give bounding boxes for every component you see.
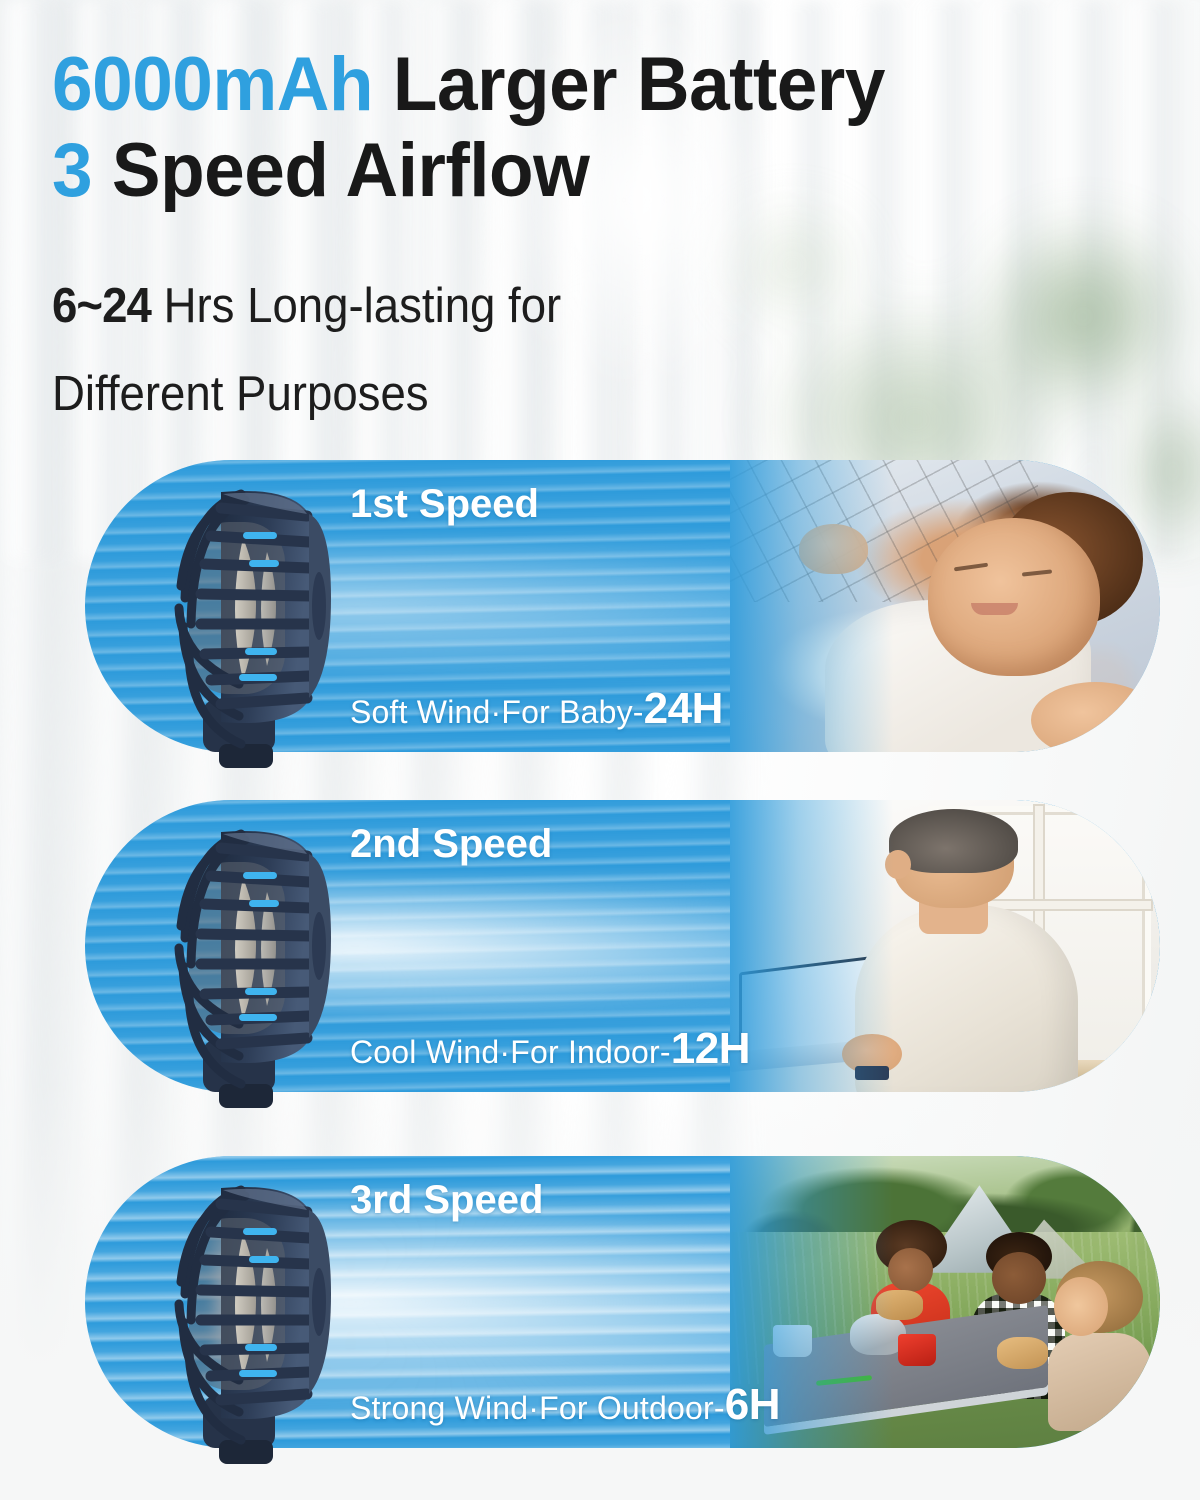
portable-fan-icon xyxy=(93,788,373,1108)
subheadline-hours-range: 6~24 xyxy=(52,279,151,333)
speed-card-3rd-description: Strong Wind·For Outdoor-6H xyxy=(350,1380,780,1430)
man-torso-tshirt xyxy=(855,905,1079,1092)
camper-3-face xyxy=(1054,1277,1108,1336)
camp-sandwich-2 xyxy=(997,1337,1049,1369)
baby-mouth xyxy=(971,603,1018,615)
camp-green-pen xyxy=(816,1375,872,1386)
baby-arm xyxy=(1031,682,1160,752)
subheadline-line-1-rest: Hrs Long-lasting for xyxy=(151,279,561,333)
portable-fan-icon xyxy=(93,448,373,768)
headline-battery-capacity: 6000mAh xyxy=(52,42,373,127)
camp-kettle xyxy=(850,1314,906,1355)
camper-2-face xyxy=(992,1252,1047,1304)
headline-block: 6000mAh Larger Battery 3 Speed Airflow xyxy=(52,42,1172,214)
window-sill xyxy=(928,1060,1152,1080)
scene-photo-man-at-laptop xyxy=(730,800,1160,1092)
camper-2-plaid-shirt xyxy=(971,1294,1066,1399)
man-ear xyxy=(885,850,911,879)
camping-photo-art xyxy=(730,1156,1160,1448)
speed-card-3rd-desc-text: Strong Wind·For Outdoor- xyxy=(350,1390,725,1426)
speed-card-3rd-runtime: 6H xyxy=(725,1380,780,1429)
headline-line-2: 3 Speed Airflow xyxy=(52,128,1127,214)
man-hand xyxy=(842,1034,902,1075)
baby-hair xyxy=(997,492,1143,626)
subheadline-line-2: Different Purposes xyxy=(52,350,759,438)
speed-card-2nd: 2nd Speed Cool Wind·For Indoor-12H xyxy=(85,800,1160,1092)
camp-folding-table xyxy=(764,1305,1048,1427)
speed-card-2nd-runtime: 12H xyxy=(671,1024,750,1073)
speed-card-2nd-title: 2nd Speed xyxy=(350,822,552,867)
indoor-photo-art xyxy=(730,800,1160,1092)
window-frame xyxy=(928,806,1152,1086)
speed-card-1st-description: Soft Wind·For Baby-24H xyxy=(350,684,723,734)
speed-card-2nd-description: Cool Wind·For Indoor-12H xyxy=(350,1024,750,1074)
camp-sandwich-1 xyxy=(876,1290,923,1319)
camper-woman-red xyxy=(868,1220,954,1348)
man-head xyxy=(893,815,1013,908)
baby-face xyxy=(928,518,1100,676)
window-mullion-vertical xyxy=(1035,806,1043,1086)
speed-card-2nd-desc-text: Cool Wind·For Indoor- xyxy=(350,1034,671,1070)
man-neck xyxy=(919,882,988,935)
camper-1-torso xyxy=(871,1282,950,1354)
camp-mug-red xyxy=(898,1334,937,1366)
camper-woman-blonde xyxy=(1048,1261,1151,1425)
window-mullion-horizontal xyxy=(928,901,1152,909)
headline-speed-count: 3 xyxy=(52,128,92,213)
baby-body xyxy=(825,600,1092,752)
baby-photo-art xyxy=(730,460,1160,752)
laptop-screen xyxy=(739,955,877,1059)
camper-1-hair xyxy=(876,1220,947,1274)
headline-line-1-rest: Larger Battery xyxy=(373,42,885,127)
speed-card-1st-desc-text: Soft Wind·For Baby- xyxy=(350,694,644,730)
man-wristwatch xyxy=(855,1066,889,1081)
speed-card-3rd-title: 3rd Speed xyxy=(350,1178,543,1223)
speed-card-1st-runtime: 24H xyxy=(644,684,723,733)
camper-man-plaid xyxy=(971,1232,1066,1396)
camper-3-hair xyxy=(1056,1261,1143,1333)
speed-card-3rd: 3rd Speed Strong Wind·For Outdoor-6H xyxy=(85,1156,1160,1448)
headline-line-2-rest: Speed Airflow xyxy=(92,128,589,213)
camper-3-torso xyxy=(1048,1333,1151,1431)
subheadline-line-1: 6~24 Hrs Long-lasting for xyxy=(52,262,759,350)
baby-eye-left xyxy=(953,563,988,572)
speed-card-1st-title: 1st Speed xyxy=(350,482,539,527)
subheadline-block: 6~24 Hrs Long-lasting for Different Purp… xyxy=(52,262,812,438)
baby-eye-right xyxy=(1022,569,1052,576)
crib-grid-pattern xyxy=(730,460,1038,602)
camp-tent-secondary xyxy=(997,1214,1100,1278)
scene-photo-sleeping-baby xyxy=(730,460,1160,752)
portable-fan-icon xyxy=(93,1144,373,1464)
camp-mug-white xyxy=(773,1325,812,1357)
camp-grass-field xyxy=(730,1232,1160,1384)
speed-card-1st: 1st Speed Soft Wind·For Baby-24H xyxy=(85,460,1160,752)
headline-line-1: 6000mAh Larger Battery xyxy=(52,42,1127,128)
baby-foot xyxy=(799,524,868,574)
camper-2-hair xyxy=(986,1232,1052,1281)
camp-trees xyxy=(730,1156,1160,1273)
baby-pillow xyxy=(988,536,1160,705)
camp-tent xyxy=(919,1185,1039,1273)
scene-photo-friends-camping xyxy=(730,1156,1160,1448)
laptop-base xyxy=(730,1038,893,1073)
camper-1-face xyxy=(888,1248,933,1292)
man-hair xyxy=(889,809,1018,873)
